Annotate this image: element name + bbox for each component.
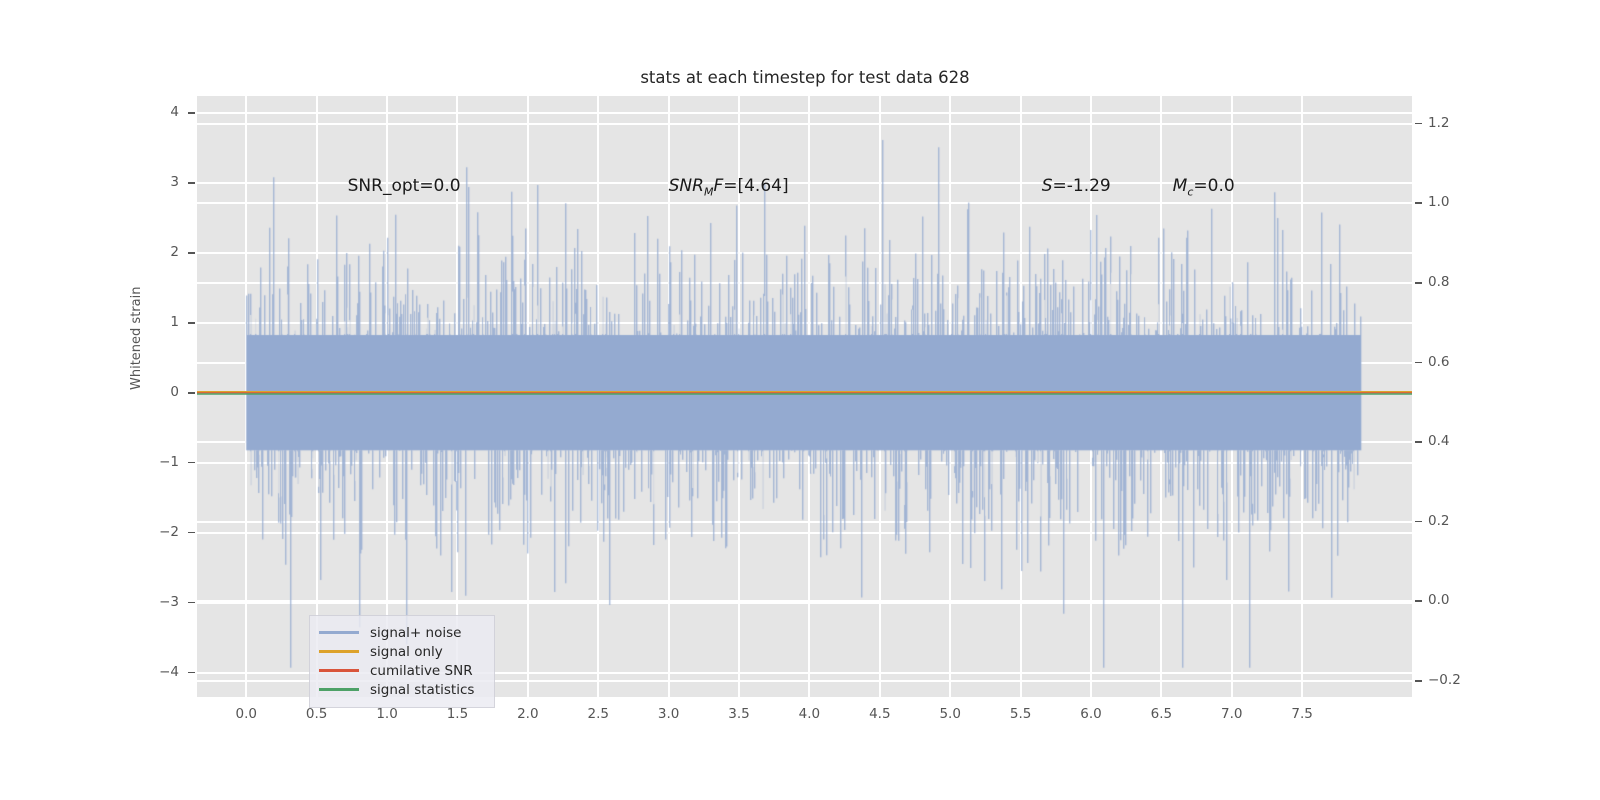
legend-item[interactable]: signal statistics — [319, 680, 485, 699]
x-tick-label: 1.5 — [432, 706, 482, 722]
x-tick-label: 4.0 — [784, 706, 834, 722]
legend-label: signal only — [370, 644, 443, 660]
x-tick-label: 6.0 — [1066, 706, 1116, 722]
y-tick-mark-right — [1415, 680, 1422, 682]
y-tick-label-left: −4 — [119, 664, 179, 680]
y-tick-mark-left — [188, 602, 195, 604]
page-title: stats at each timestep for test data 628 — [197, 68, 1413, 87]
legend-item[interactable]: signal+ noise — [319, 623, 485, 642]
x-tick-label: 2.0 — [503, 706, 553, 722]
legend-item[interactable]: cumilative SNR — [319, 661, 485, 680]
x-tick-label: 5.5 — [996, 706, 1046, 722]
y-tick-label-right: 0.8 — [1428, 274, 1488, 290]
annotation-snr-opt: SNR_opt=0.0 — [348, 176, 461, 196]
y-tick-mark-left — [188, 182, 195, 184]
x-tick-label: 1.0 — [362, 706, 412, 722]
x-tick-label: 3.5 — [714, 706, 764, 722]
x-tick-label: 6.5 — [1136, 706, 1186, 722]
y-tick-label-left: 2 — [119, 244, 179, 260]
series-line-signal-statistics — [197, 393, 1412, 395]
y-tick-label-left: 0 — [119, 384, 179, 400]
x-tick-label: 4.5 — [855, 706, 905, 722]
y-tick-mark-right — [1415, 441, 1422, 443]
y-tick-mark-left — [188, 252, 195, 254]
y-tick-label-left: −1 — [119, 454, 179, 470]
y-tick-mark-left — [188, 532, 195, 534]
legend-swatch-icon — [319, 669, 359, 672]
y-tick-label-right: 0.4 — [1428, 433, 1488, 449]
y-tick-label-right: 0.6 — [1428, 354, 1488, 370]
annotation-mc-stat: Mc=0.0 — [1173, 176, 1235, 198]
y-tick-label-left: −2 — [119, 524, 179, 540]
y-tick-label-left: −3 — [119, 594, 179, 610]
x-tick-label: 2.5 — [573, 706, 623, 722]
y-tick-mark-left — [188, 112, 195, 114]
y-tick-mark-right — [1415, 521, 1422, 523]
x-tick-label: 0.0 — [221, 706, 271, 722]
plot-area: SNR_opt=0.0SNRMF=[4.64]S=-1.29Mc=0.0 — [197, 96, 1412, 697]
x-tick-label: 5.0 — [925, 706, 975, 722]
y-tick-mark-right — [1415, 600, 1422, 602]
y-tick-label-right: −0.2 — [1428, 672, 1488, 688]
y-tick-mark-left — [188, 672, 195, 674]
legend-label: signal statistics — [370, 682, 474, 698]
y-tick-label-right: 1.2 — [1428, 115, 1488, 131]
y-tick-mark-right — [1415, 362, 1422, 364]
x-tick-label: 7.0 — [1207, 706, 1257, 722]
y-tick-label-left: 4 — [119, 104, 179, 120]
y-tick-label-right: 1.0 — [1428, 194, 1488, 210]
y-tick-label-left: 1 — [119, 314, 179, 330]
annotation-s-stat: S=-1.29 — [1042, 176, 1111, 196]
annotation-snr-mf: SNRMF=[4.64] — [669, 176, 789, 198]
x-tick-label: 3.0 — [644, 706, 694, 722]
legend-swatch-icon — [319, 650, 359, 653]
y-tick-mark-left — [188, 322, 195, 324]
legend-swatch-icon — [319, 631, 359, 634]
x-tick-label: 0.5 — [292, 706, 342, 722]
legend-label: signal+ noise — [370, 625, 461, 641]
y-tick-mark-right — [1415, 202, 1422, 204]
y-tick-label-right: 0.2 — [1428, 513, 1488, 529]
legend-label: cumilative SNR — [370, 663, 473, 679]
y-tick-label-right: 0.0 — [1428, 592, 1488, 608]
x-tick-label: 7.5 — [1277, 706, 1327, 722]
legend-swatch-icon — [319, 688, 359, 691]
figure-canvas: stats at each timestep for test data 628… — [0, 0, 1600, 800]
legend-item[interactable]: signal only — [319, 642, 485, 661]
legend: signal+ noisesignal onlycumilative SNRsi… — [309, 615, 495, 708]
y-tick-mark-right — [1415, 123, 1422, 125]
y-tick-mark-left — [188, 392, 195, 394]
y-tick-mark-right — [1415, 282, 1422, 284]
y-tick-label-left: 3 — [119, 174, 179, 190]
y-axis-label: Whitened strain — [129, 170, 144, 390]
y-tick-mark-left — [188, 462, 195, 464]
